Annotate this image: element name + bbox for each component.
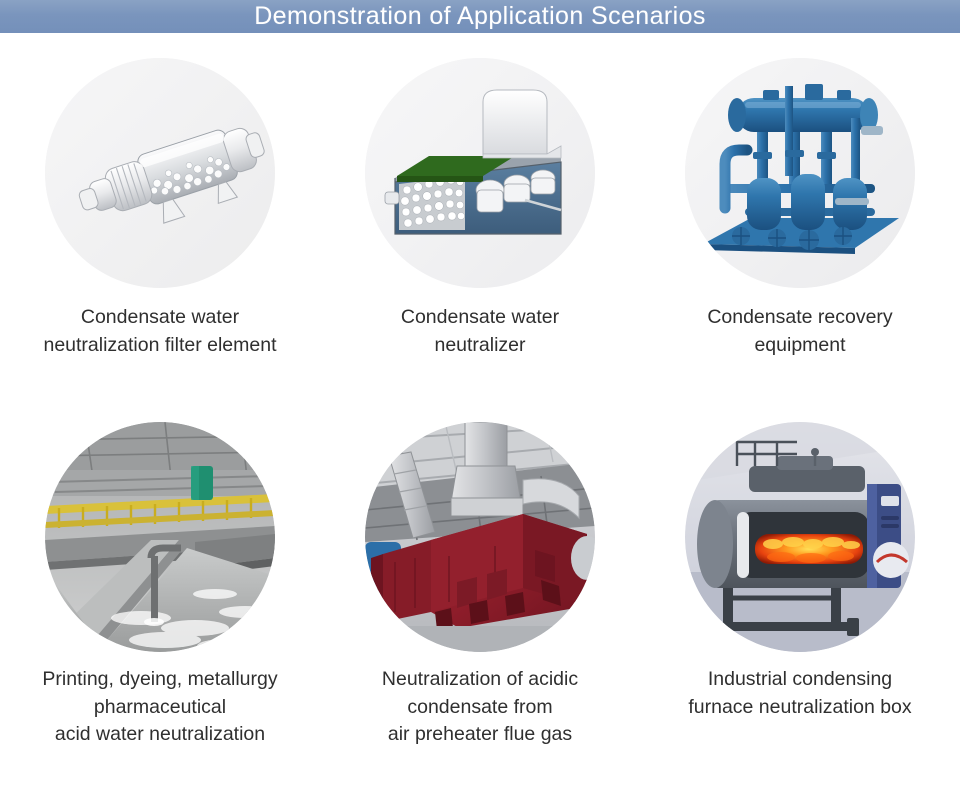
- caption-line: equipment: [650, 332, 950, 360]
- page-header-banner: Demonstration of Application Scenarios: [0, 0, 960, 33]
- caption-line: condensate from: [330, 694, 630, 722]
- condensate-recovery-equipment-photo: [685, 58, 915, 288]
- scenario-caption: Neutralization of acidic condensate from…: [330, 666, 630, 749]
- scenario-caption: Industrial condensing furnace neutraliza…: [650, 666, 950, 721]
- caption-line: furnace neutralization box: [650, 694, 950, 722]
- caption-line: Printing, dyeing, metallurgy: [10, 666, 310, 694]
- condensate-water-neutralizer-photo: [365, 58, 595, 288]
- scenario-card-acid-water-neutralization[interactable]: Printing, dyeing, metallurgy pharmaceuti…: [0, 400, 320, 780]
- caption-line: Industrial condensing: [650, 666, 950, 694]
- industrial-condensing-furnace-photo: [685, 422, 915, 652]
- scenario-card-industrial-condensing-furnace[interactable]: Industrial condensing furnace neutraliza…: [640, 400, 960, 780]
- page-title: Demonstration of Application Scenarios: [254, 4, 706, 29]
- caption-line: Condensate water: [330, 304, 630, 332]
- scenario-card-condensate-water-neutralization-filter-element[interactable]: Condensate water neutralization filter e…: [0, 33, 320, 400]
- scenario-card-condensate-water-neutralizer[interactable]: Condensate water neutralizer: [320, 33, 640, 400]
- scenario-card-air-preheater-flue-gas-condensate[interactable]: Neutralization of acidic condensate from…: [320, 400, 640, 780]
- scenario-caption: Condensate water neutralizer: [330, 304, 630, 359]
- acid-water-neutralization-plant-photo: [45, 422, 275, 652]
- application-scenarios-page: Demonstration of Application Scenarios: [0, 0, 960, 812]
- scenario-caption: Printing, dyeing, metallurgy pharmaceuti…: [10, 666, 310, 749]
- scenario-caption: Condensate water neutralization filter e…: [10, 304, 310, 359]
- caption-line: pharmaceutical: [10, 694, 310, 722]
- caption-line: Neutralization of acidic: [330, 666, 630, 694]
- caption-line: air preheater flue gas: [330, 721, 630, 749]
- caption-line: Condensate recovery: [650, 304, 950, 332]
- scenario-caption: Condensate recovery equipment: [650, 304, 950, 359]
- caption-line: Condensate water: [10, 304, 310, 332]
- caption-line: neutralizer: [330, 332, 630, 360]
- caption-line: neutralization filter element: [10, 332, 310, 360]
- scenario-grid: Condensate water neutralization filter e…: [0, 33, 960, 812]
- scenario-card-condensate-recovery-equipment[interactable]: Condensate recovery equipment: [640, 33, 960, 400]
- condensate-water-neutralization-filter-element-photo: [45, 58, 275, 288]
- air-preheater-flue-gas-condensate-photo: [365, 422, 595, 652]
- caption-line: acid water neutralization: [10, 721, 310, 749]
